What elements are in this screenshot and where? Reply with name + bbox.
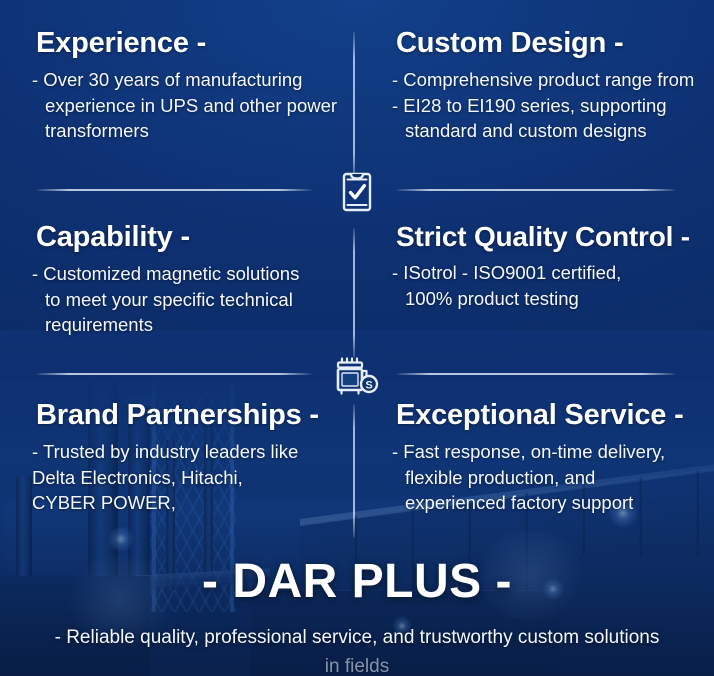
brand-tagline-cut: in fields bbox=[0, 655, 714, 676]
row1-divider-left bbox=[36, 189, 312, 191]
feature-block-capability: Capability - - Customized magnetic solut… bbox=[32, 222, 348, 337]
column-divider-row2 bbox=[353, 228, 355, 358]
feature-line: experience in UPS and other power bbox=[32, 93, 348, 118]
poster-footer: - DAR PLUS - - Reliable quality, profess… bbox=[0, 558, 714, 676]
svg-text:S: S bbox=[365, 379, 372, 391]
row2-divider-right bbox=[396, 373, 676, 375]
feature-line: - Fast response, on-time delivery, bbox=[392, 439, 700, 464]
feature-line: - Customized magnetic solutions bbox=[32, 261, 348, 286]
feature-title-custom-design: Custom Design - bbox=[396, 28, 700, 58]
column-divider-row1 bbox=[353, 32, 355, 180]
feature-line: - Over 30 years of manufacturing bbox=[32, 67, 348, 92]
feature-block-strict-quality-control: Strict Quality Control - - ISotrol - ISO… bbox=[392, 222, 700, 311]
row2-divider-left bbox=[36, 373, 312, 375]
feature-title-exceptional-service: Exceptional Service - bbox=[396, 400, 700, 430]
feature-body-brand-partnerships: - Trusted by industry leaders like Delta… bbox=[32, 439, 348, 514]
feature-body-strict-quality-control: - ISotrol - ISO9001 certified, 100% prod… bbox=[392, 260, 700, 310]
feature-block-brand-partnerships: Brand Partnerships - - Trusted by indust… bbox=[32, 400, 348, 515]
feature-line: Delta Electronics, Hitachi, bbox=[32, 465, 348, 490]
feature-line: 100% product testing bbox=[392, 286, 700, 311]
poster-canvas: S Experience - - Over 30 years of manufa… bbox=[0, 0, 714, 676]
feature-line: standard and custom designs bbox=[392, 118, 700, 143]
feature-grid: S Experience - - Over 30 years of manufa… bbox=[0, 0, 714, 555]
feature-body-experience: - Over 30 years of manufacturing experie… bbox=[32, 67, 348, 142]
brand-tagline: - Reliable quality, professional service… bbox=[0, 626, 714, 651]
feature-line: CYBER POWER, bbox=[32, 490, 348, 515]
feature-title-capability: Capability - bbox=[36, 222, 348, 252]
feature-block-exceptional-service: Exceptional Service - - Fast response, o… bbox=[392, 400, 700, 515]
feature-line: flexible production, and bbox=[392, 465, 700, 490]
feature-title-brand-partnerships: Brand Partnerships - bbox=[36, 400, 348, 430]
feature-title-strict-quality-control: Strict Quality Control - bbox=[396, 222, 700, 251]
feature-line: - EI28 to EI190 series, supporting bbox=[392, 93, 700, 118]
feature-block-custom-design: Custom Design - - Comprehensive product … bbox=[392, 28, 700, 143]
feature-title-experience: Experience - bbox=[36, 28, 348, 58]
row1-divider-right bbox=[396, 189, 676, 191]
clipboard-check-icon bbox=[334, 168, 380, 221]
brand-title: - DAR PLUS - bbox=[0, 558, 714, 606]
feature-line: - Comprehensive product range from bbox=[392, 67, 700, 92]
feature-line: - ISotrol - ISO9001 certified, bbox=[392, 260, 700, 285]
feature-line: - Trusted by industry leaders like bbox=[32, 439, 348, 464]
feature-line: transformers bbox=[32, 118, 348, 143]
feature-body-capability: - Customized magnetic solutions to meet … bbox=[32, 261, 348, 336]
feature-line: experienced factory support bbox=[392, 490, 700, 515]
column-divider-row3 bbox=[353, 404, 355, 538]
feature-line: requirements bbox=[32, 312, 348, 337]
feature-body-custom-design: - Comprehensive product range from - EI2… bbox=[392, 67, 700, 142]
poster-content: S Experience - - Over 30 years of manufa… bbox=[0, 0, 714, 676]
feature-block-experience: Experience - - Over 30 years of manufact… bbox=[32, 28, 348, 143]
feature-line: to meet your specific technical bbox=[32, 287, 348, 312]
feature-body-exceptional-service: - Fast response, on-time delivery, flexi… bbox=[392, 439, 700, 514]
transformer-cost-icon: S bbox=[328, 352, 386, 405]
